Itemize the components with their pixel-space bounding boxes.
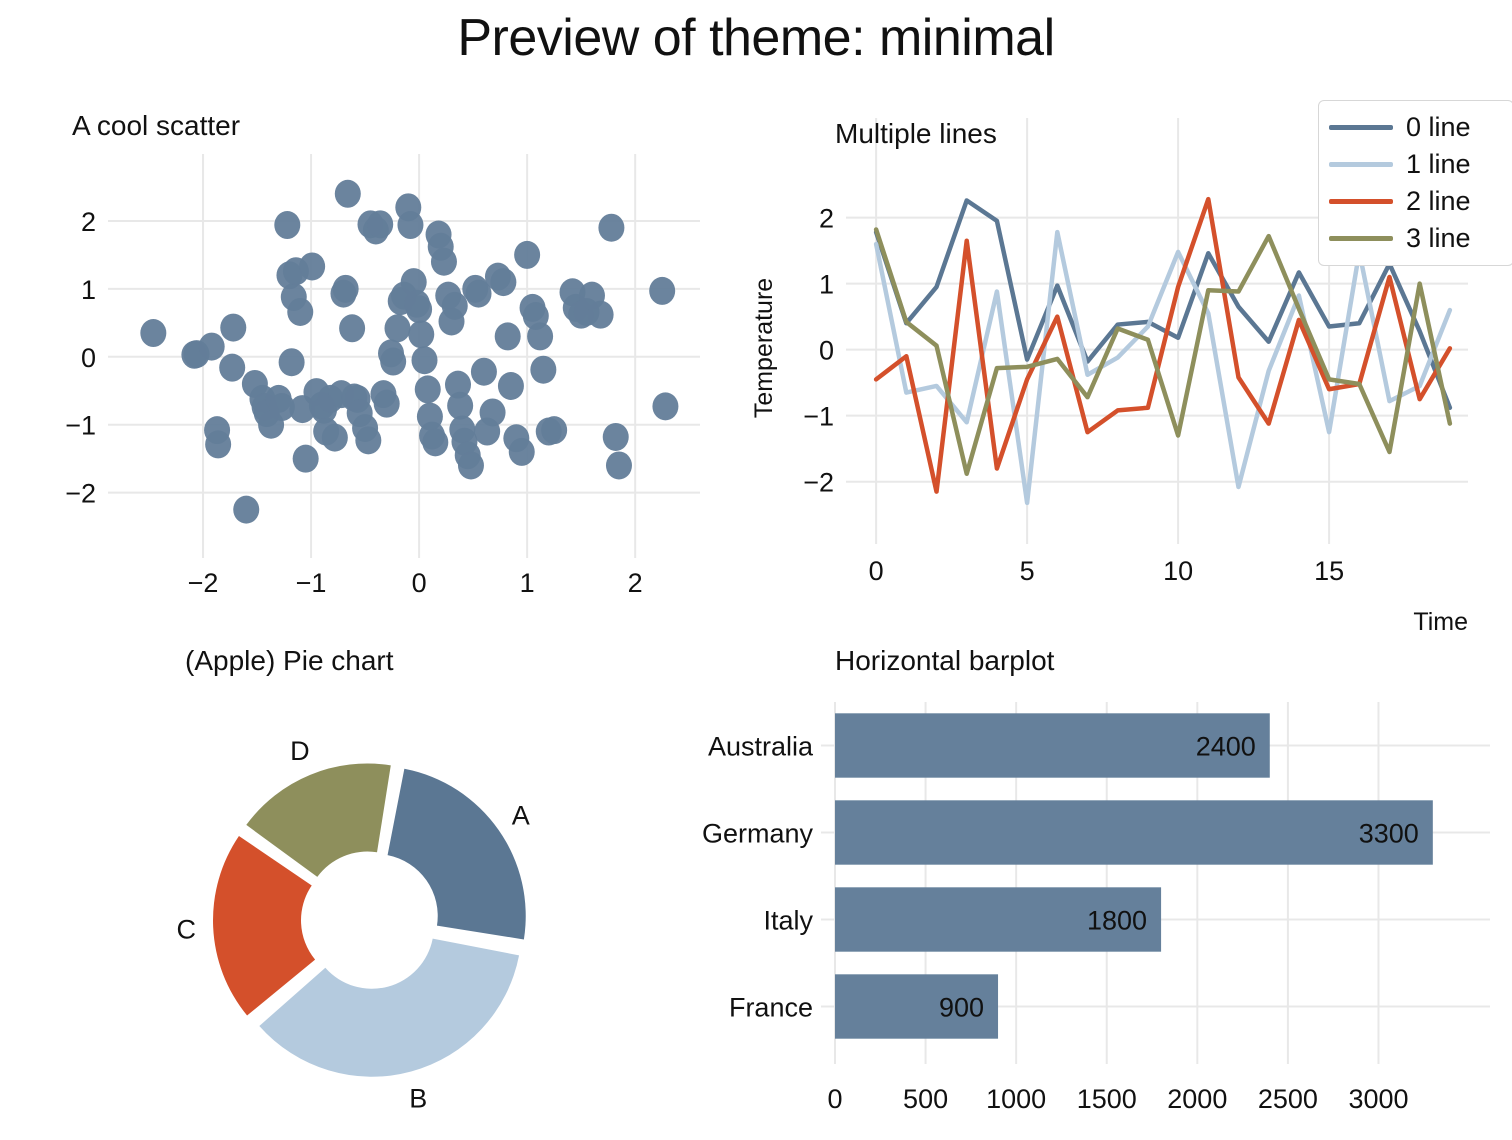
pie-label-C: C xyxy=(176,914,196,944)
lines-legend[interactable]: 0 line 1 line 2 line 3 line xyxy=(1318,100,1512,266)
scatter-point xyxy=(415,375,441,403)
pie-wedge-A[interactable] xyxy=(388,769,526,940)
scatter-point xyxy=(355,426,381,454)
figure-canvas: Preview of theme: minimal A cool scatter… xyxy=(0,0,1512,1140)
scatter-point xyxy=(480,398,506,426)
legend-swatch-2 xyxy=(1329,199,1393,204)
y-tick-label: 1 xyxy=(819,270,834,300)
legend-item[interactable]: 1 line xyxy=(1329,146,1501,183)
scatter-point xyxy=(274,211,300,239)
x-tick-label: 10 xyxy=(1163,556,1193,586)
scatter-point xyxy=(606,451,632,479)
x-tick-label: 15 xyxy=(1314,556,1344,586)
scatter-plot: 210−1−2−2−1012 xyxy=(0,100,730,610)
scatter-point xyxy=(495,322,521,350)
pie-chart: ABCD xyxy=(0,630,730,1140)
scatter-point xyxy=(339,314,365,342)
legend-swatch-0 xyxy=(1329,125,1393,130)
legend-item[interactable]: 2 line xyxy=(1329,183,1501,220)
scatter-point xyxy=(322,424,348,452)
scatter-point xyxy=(406,295,432,323)
scatter-point xyxy=(384,314,410,342)
y-tick-label: −1 xyxy=(803,402,834,432)
scatter-point xyxy=(458,451,484,479)
scatter-point xyxy=(509,438,535,466)
pie-label-A: A xyxy=(512,800,530,830)
bar-plot: Australia2400Germany3300Italy1800France9… xyxy=(700,630,1512,1140)
scatter-point xyxy=(397,211,423,239)
scatter-point xyxy=(530,356,556,384)
bar-panel: Horizontal barplot Australia2400Germany3… xyxy=(700,630,1512,1140)
x-tick-label: 2500 xyxy=(1258,1084,1318,1114)
scatter-point xyxy=(431,248,457,276)
scatter-panel: A cool scatter 210−1−2−2−1012 xyxy=(0,100,730,610)
scatter-point xyxy=(367,210,393,238)
scatter-point xyxy=(220,314,246,342)
y-tick-label: −1 xyxy=(65,411,96,441)
legend-label-0: 0 line xyxy=(1406,112,1471,143)
bar-category-label: Australia xyxy=(708,732,814,762)
x-tick-label: −1 xyxy=(296,568,327,598)
bar-value-label: 2400 xyxy=(1196,732,1256,762)
x-tick-label: 1000 xyxy=(986,1084,1046,1114)
scatter-point xyxy=(541,416,567,444)
scatter-point xyxy=(652,392,678,420)
legend-swatch-1 xyxy=(1329,162,1393,167)
scatter-point xyxy=(514,241,540,269)
scatter-point xyxy=(412,346,438,374)
y-tick-label: 0 xyxy=(819,336,834,366)
y-tick-label: 1 xyxy=(81,275,96,305)
scatter-point xyxy=(140,319,166,347)
scatter-point xyxy=(374,390,400,418)
bar-value-label: 1800 xyxy=(1087,906,1147,936)
y-tick-label: 2 xyxy=(819,204,834,234)
pie-label-D: D xyxy=(290,736,310,766)
scatter-point xyxy=(380,348,406,376)
scatter-point xyxy=(299,252,325,280)
legend-label-2: 2 line xyxy=(1406,186,1471,217)
scatter-point xyxy=(287,298,313,326)
legend-label-1: 1 line xyxy=(1406,149,1471,180)
pie-panel: (Apple) Pie chart ABCD xyxy=(0,630,730,1140)
x-tick-label: 0 xyxy=(827,1084,842,1114)
scatter-point xyxy=(333,275,359,303)
y-axis-label: Temperature xyxy=(750,278,778,418)
scatter-point xyxy=(442,292,468,320)
scatter-point xyxy=(205,430,231,458)
x-tick-label: 1 xyxy=(520,568,535,598)
bar-category-label: Italy xyxy=(763,906,813,936)
bar-value-label: 900 xyxy=(939,993,984,1023)
scatter-point xyxy=(498,372,524,400)
x-tick-label: 3000 xyxy=(1348,1084,1408,1114)
scatter-point xyxy=(588,301,614,329)
bar-title: Horizontal barplot xyxy=(835,645,1054,677)
scatter-point xyxy=(335,180,361,208)
figure-title: Preview of theme: minimal xyxy=(0,8,1512,68)
x-tick-label: 2000 xyxy=(1167,1084,1227,1114)
legend-swatch-3 xyxy=(1329,236,1393,241)
x-tick-label: −2 xyxy=(188,568,219,598)
x-tick-label: 5 xyxy=(1020,556,1035,586)
bar-germany[interactable] xyxy=(835,800,1433,864)
legend-item[interactable]: 3 line xyxy=(1329,220,1501,257)
y-tick-label: 0 xyxy=(81,343,96,373)
scatter-point xyxy=(293,445,319,473)
x-axis-label: Time xyxy=(1413,608,1468,630)
scatter-title: A cool scatter xyxy=(72,110,240,142)
y-tick-label: −2 xyxy=(65,479,96,509)
legend-item[interactable]: 0 line xyxy=(1329,109,1501,146)
y-tick-label: −2 xyxy=(803,468,834,498)
pie-label-B: B xyxy=(409,1084,427,1114)
x-tick-label: 2 xyxy=(628,568,643,598)
bar-category-label: France xyxy=(729,993,813,1023)
scatter-point xyxy=(603,423,629,451)
x-tick-label: 0 xyxy=(869,556,884,586)
scatter-point xyxy=(422,428,448,456)
scatter-point xyxy=(447,392,473,420)
y-tick-label: 2 xyxy=(81,207,96,237)
scatter-point xyxy=(279,348,305,376)
scatter-point xyxy=(490,268,516,296)
lines-title: Multiple lines xyxy=(835,118,997,150)
scatter-point xyxy=(471,358,497,386)
bar-value-label: 3300 xyxy=(1359,819,1419,849)
pie-title: (Apple) Pie chart xyxy=(185,645,394,677)
scatter-point xyxy=(527,322,553,350)
bar-category-label: Germany xyxy=(702,819,814,849)
scatter-point xyxy=(219,354,245,382)
x-tick-label: 500 xyxy=(903,1084,948,1114)
scatter-point xyxy=(199,333,225,361)
scatter-point xyxy=(649,277,675,305)
x-tick-label: 0 xyxy=(412,568,427,598)
scatter-point xyxy=(598,214,624,242)
scatter-point xyxy=(408,320,434,348)
scatter-point xyxy=(233,496,259,524)
lines-panel: Multiple lines 210−1−2051015TemperatureT… xyxy=(740,100,1512,630)
x-tick-label: 1500 xyxy=(1077,1084,1137,1114)
legend-label-3: 3 line xyxy=(1406,223,1471,254)
